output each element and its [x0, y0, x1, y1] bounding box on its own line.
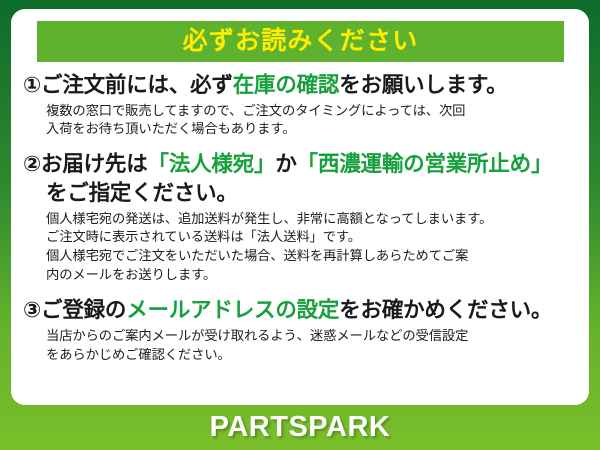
- item-3-heading-highlight: メールアドレスの設定: [126, 298, 339, 322]
- item-3-body-line-2: をあらかじめご確認ください。: [46, 346, 577, 365]
- item-3-heading-part-1: ご登録の: [41, 298, 126, 322]
- notice-item-2-body: 個人様宅宛の発送は、追加送料が発生し、非常に高額となってしまいます。 ご注文時に…: [23, 210, 577, 286]
- item-2-heading-part-1: お届け先は: [41, 152, 148, 176]
- item-1-body-line-2: 入荷をお待ち頂いただく場合もあります。: [46, 120, 577, 139]
- brand-logo: PARTSPARK: [210, 411, 391, 444]
- notice-header-banner: 必ずお読みください: [37, 21, 564, 62]
- notice-panel: 必ずお読みください ①ご注文前には、必ず在庫の確認をお願いします。 複数の窓口で…: [11, 9, 589, 405]
- page-title: 必ずお読みください: [183, 29, 419, 54]
- item-1-body-line-1: 複数の窓口で販売してますので、ご注文のタイミングによっては、次回: [46, 102, 577, 121]
- notice-item-1-body: 複数の窓口で販売してますので、ご注文のタイミングによっては、次回 入荷をお待ち頂…: [23, 102, 577, 140]
- item-2-body-line-2: ご注文時に表示されている送料は「法人送料」です。: [46, 228, 577, 247]
- notice-item-2: ②お届け先は「法人様宛」か「西濃運輸の営業所止め」をご指定ください。 個人様宅宛…: [23, 150, 577, 285]
- item-3-body-line-1: 当店からのご案内メールが受け取れるよう、迷惑メールなどの受信設定: [46, 327, 577, 346]
- item-2-body-line-4: 内のメールをお送りします。: [46, 266, 577, 285]
- notice-item-list: ①ご注文前には、必ず在庫の確認をお願いします。 複数の窓口で販売してますので、ご…: [11, 71, 589, 375]
- notice-item-2-heading: ②お届け先は「法人様宛」か「西濃運輸の営業所止め」をご指定ください。: [23, 150, 577, 207]
- notice-item-3: ③ご登録のメールアドレスの設定をお確かめください。 当店からのご案内メールが受け…: [23, 296, 577, 364]
- notice-card: 必ずお読みください ①ご注文前には、必ず在庫の確認をお願いします。 複数の窓口で…: [0, 0, 600, 450]
- item-2-heading-part-3: か: [275, 152, 296, 176]
- item-1-heading-part-1: ご注文前には、必ず: [41, 73, 233, 97]
- notice-item-1: ①ご注文前には、必ず在庫の確認をお願いします。 複数の窓口で販売してますので、ご…: [23, 71, 577, 139]
- item-1-heading-part-3: をお願いします。: [339, 73, 507, 97]
- item-2-heading-line-2: をご指定ください。: [23, 179, 577, 208]
- notice-item-3-heading: ③ご登録のメールアドレスの設定をお確かめください。: [23, 296, 577, 325]
- item-1-heading-highlight: 在庫の確認: [233, 73, 340, 97]
- item-2-heading-highlight-1: 「法人様宛」: [148, 152, 276, 176]
- item-2-body-line-1: 個人様宅宛の発送は、追加送料が発生し、非常に高額となってしまいます。: [46, 210, 577, 229]
- item-3-marker: ③: [23, 298, 41, 322]
- footer-bar: PARTSPARK: [0, 405, 600, 450]
- item-3-heading-part-3: をお確かめください。: [339, 298, 552, 322]
- item-1-marker: ①: [23, 73, 41, 97]
- item-2-body-line-3: 個人様宅宛でご注文をいただいた場合、送料を再計算しあらためてご案: [46, 247, 577, 266]
- item-2-heading-highlight-2: 「西濃運輸の営業所止め」: [297, 152, 553, 176]
- notice-item-3-body: 当店からのご案内メールが受け取れるよう、迷惑メールなどの受信設定 をあらかじめご…: [23, 327, 577, 365]
- item-2-marker: ②: [23, 152, 41, 176]
- notice-item-1-heading: ①ご注文前には、必ず在庫の確認をお願いします。: [23, 71, 577, 100]
